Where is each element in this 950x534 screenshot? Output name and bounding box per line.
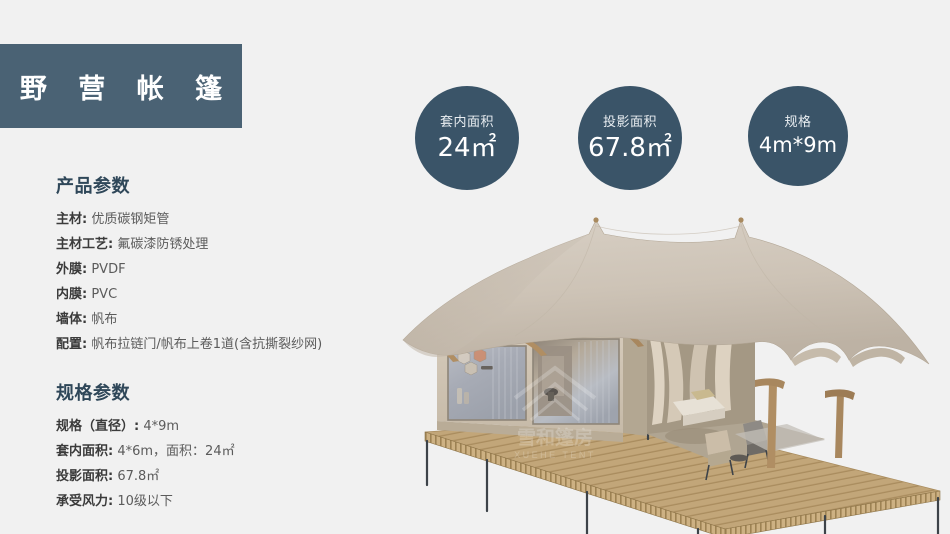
spec-row: 配置: 帆布拉链门/帆布上卷1道(含抗撕裂纱网) bbox=[56, 332, 386, 357]
spec-label: 主材工艺: bbox=[56, 237, 113, 252]
spec-value: PVDF bbox=[91, 262, 125, 277]
spec-label: 外膜: bbox=[56, 262, 87, 277]
spec-value: 氟碳漆防锈处理 bbox=[117, 237, 208, 252]
spec-label: 规格（直径）: bbox=[56, 419, 139, 434]
spec-row: 内膜: PVC bbox=[56, 282, 386, 307]
badge-interior-area: 套内面积 24㎡ bbox=[415, 86, 519, 190]
badge-projected-area: 投影面积 67.8㎡ bbox=[578, 86, 682, 190]
spec-row: 套内面积: 4*6m，面积：24㎡ bbox=[56, 439, 386, 464]
spec-row: 墙体: 帆布 bbox=[56, 307, 386, 332]
spec-label: 主材: bbox=[56, 212, 87, 227]
badge-label: 投影面积 bbox=[603, 116, 657, 129]
spec-row: 主材: 优质碳钢矩管 bbox=[56, 207, 386, 232]
specification-parameters-heading: 规格参数 bbox=[56, 379, 386, 405]
product-spec-page: 野 营 帐 篷 产品参数 主材: 优质碳钢矩管 主材工艺: 氟碳漆防锈处理 外膜… bbox=[0, 0, 950, 534]
product-parameters-heading: 产品参数 bbox=[56, 172, 386, 198]
spec-value: 10级以下 bbox=[117, 494, 173, 509]
watermark-en-text: XUEHE TENT bbox=[514, 450, 596, 460]
badge-dimensions: 规格 4m*9m bbox=[748, 86, 848, 186]
spec-value: 4*6m，面积：24㎡ bbox=[117, 444, 234, 459]
spec-row: 投影面积: 67.8㎡ bbox=[56, 464, 386, 489]
spec-label: 套内面积: bbox=[56, 444, 113, 459]
spec-row: 规格（直径）: 4*9m bbox=[56, 414, 386, 439]
badge-value: 24㎡ bbox=[437, 135, 496, 161]
specification-parameters-block: 规格参数 规格（直径）: 4*9m 套内面积: 4*6m，面积：24㎡ 投影面积… bbox=[56, 379, 386, 514]
page-title: 野 营 帐 篷 bbox=[9, 67, 233, 106]
badge-value: 4m*9m bbox=[759, 135, 837, 156]
spec-label: 承受风力: bbox=[56, 494, 113, 509]
watermark-cn-text: 雪和篷房 bbox=[517, 426, 593, 449]
spec-value: 67.8㎡ bbox=[117, 469, 159, 484]
spec-row: 外膜: PVDF bbox=[56, 257, 386, 282]
spec-value: PVC bbox=[91, 287, 117, 302]
spec-label: 配置: bbox=[56, 337, 87, 352]
title-banner: 野 营 帐 篷 bbox=[0, 44, 242, 128]
spec-row: 主材工艺: 氟碳漆防锈处理 bbox=[56, 232, 386, 257]
spec-value: 优质碳钢矩管 bbox=[91, 212, 169, 227]
spec-value: 4*9m bbox=[143, 419, 179, 434]
spec-label: 内膜: bbox=[56, 287, 87, 302]
spec-row: 承受风力: 10级以下 bbox=[56, 489, 386, 514]
tent-render-image: 雪和篷房 XUEHE TENT bbox=[395, 196, 950, 534]
spec-label: 墙体: bbox=[56, 312, 87, 327]
spec-label: 投影面积: bbox=[56, 469, 113, 484]
badge-value: 67.8㎡ bbox=[588, 135, 672, 161]
spec-value: 帆布拉链门/帆布上卷1道(含抗撕裂纱网) bbox=[91, 337, 322, 352]
badge-label: 规格 bbox=[784, 116, 811, 129]
spec-value: 帆布 bbox=[91, 312, 117, 327]
product-parameters-block: 产品参数 主材: 优质碳钢矩管 主材工艺: 氟碳漆防锈处理 外膜: PVDF 内… bbox=[56, 172, 386, 357]
badge-label: 套内面积 bbox=[440, 116, 494, 129]
specification-column: 产品参数 主材: 优质碳钢矩管 主材工艺: 氟碳漆防锈处理 外膜: PVDF 内… bbox=[56, 172, 386, 514]
tent-support-poles bbox=[755, 378, 855, 468]
